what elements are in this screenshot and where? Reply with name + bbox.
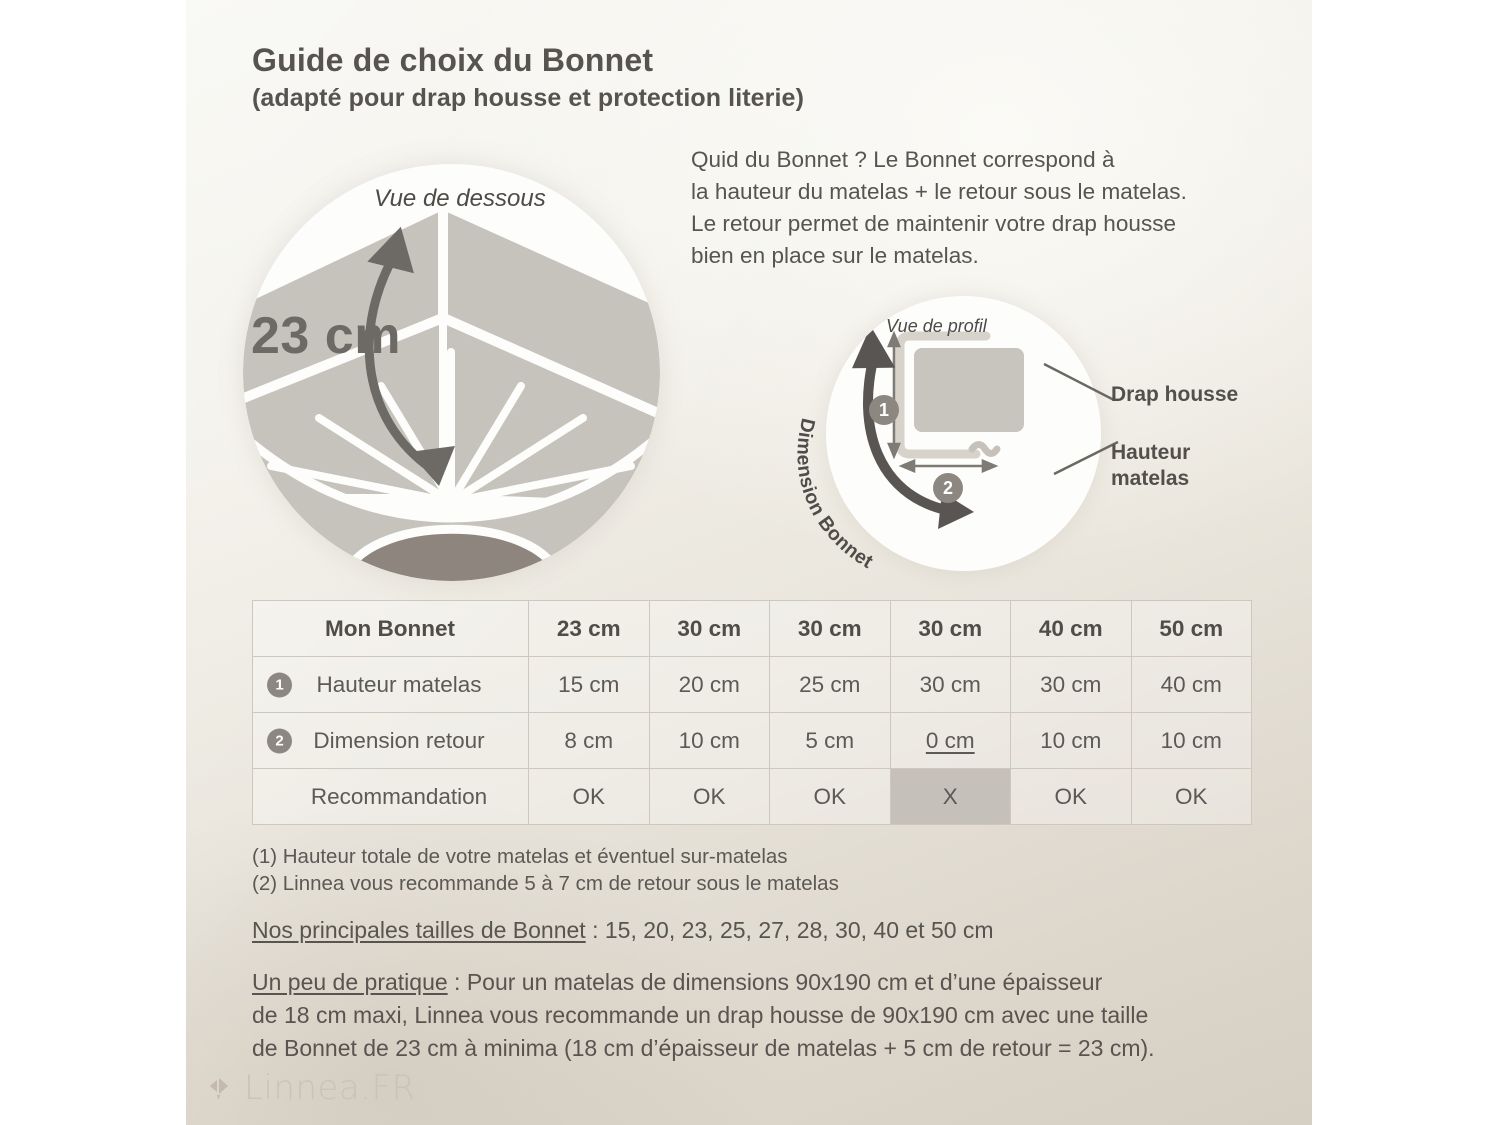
table-cell: OK bbox=[1131, 769, 1252, 825]
bottom-view-label: Vue de dessous bbox=[374, 185, 546, 213]
table-cell: OK bbox=[529, 769, 650, 825]
title-primary: Guide de choix du Bonnet bbox=[252, 42, 1212, 80]
infographic-canvas: Guide de choix du Bonnet (adapté pour dr… bbox=[0, 0, 1500, 1125]
content-panel: Guide de choix du Bonnet (adapté pour dr… bbox=[186, 0, 1312, 1125]
practical-example: Un peu de pratique : Pour un matelas de … bbox=[252, 966, 1272, 1065]
intro-line-4: bien en place sur le matelas. bbox=[691, 240, 1271, 272]
table-cell: OK bbox=[649, 769, 770, 825]
table-row: RecommandationOKOKOKXOKOK bbox=[253, 769, 1252, 825]
table-cell: 0 cm bbox=[890, 713, 1011, 769]
table-cell: 20 cm bbox=[649, 657, 770, 713]
available-sizes-value: : 15, 20, 23, 25, 27, 28, 30, 40 et 50 c… bbox=[586, 917, 994, 943]
footnote-1: (1) Hauteur totale de votre matelas et é… bbox=[252, 843, 1262, 870]
table-cell: 15 cm bbox=[529, 657, 650, 713]
table-row-label: 2Dimension retour bbox=[253, 713, 529, 769]
logo-wordmark: Linnea.FR bbox=[244, 1068, 416, 1108]
row-label-text: Dimension retour bbox=[313, 728, 484, 753]
linnea-logo[interactable]: Linnea.FR bbox=[206, 1068, 416, 1108]
table-cell: X bbox=[890, 769, 1011, 825]
intro-paragraph: Quid du Bonnet ? Le Bonnet correspond à … bbox=[691, 144, 1271, 272]
page-title: Guide de choix du Bonnet (adapté pour dr… bbox=[252, 42, 1212, 114]
table-cell: OK bbox=[770, 769, 891, 825]
practical-example-line-1: : Pour un matelas de dimensions 90x190 c… bbox=[448, 969, 1103, 995]
bottom-view-illustration bbox=[243, 164, 660, 581]
table-cell: 8 cm bbox=[529, 713, 650, 769]
table-row: 1Hauteur matelas15 cm20 cm25 cm30 cm30 c… bbox=[253, 657, 1252, 713]
intro-line-3: Le retour permet de maintenir votre drap… bbox=[691, 208, 1271, 240]
linnea-diamond-icon bbox=[206, 1074, 232, 1102]
measure-label-23cm: 23 cm bbox=[251, 306, 401, 366]
intro-line-2: la hauteur du matelas + le retour sous l… bbox=[691, 176, 1271, 208]
diagram-bottom-view: Vue de dessous 23 cm bbox=[243, 164, 660, 581]
available-sizes-label: Nos principales tailles de Bonnet bbox=[252, 917, 586, 943]
row-label-text: Recommandation bbox=[311, 784, 487, 809]
row-label-text: Hauteur matelas bbox=[316, 672, 481, 697]
table-cell: 30 cm bbox=[649, 601, 770, 657]
profile-view-label: Vue de profil bbox=[886, 316, 987, 337]
table-cell: 5 cm bbox=[770, 713, 891, 769]
table-row-label: 1Hauteur matelas bbox=[253, 657, 529, 713]
table-cell: 10 cm bbox=[1011, 713, 1132, 769]
callout-drap-housse: Drap housse bbox=[1111, 382, 1238, 408]
table-cell: 30 cm bbox=[890, 657, 1011, 713]
cell-underlined-value: 0 cm bbox=[926, 728, 975, 753]
table-row-label: Recommandation bbox=[253, 769, 529, 825]
footnote-2: (2) Linnea vous recommande 5 à 7 cm de r… bbox=[252, 870, 1262, 897]
table-cell: 23 cm bbox=[529, 601, 650, 657]
table-cell: 25 cm bbox=[770, 657, 891, 713]
callout-leader-lines bbox=[1036, 356, 1226, 516]
table-cell: 30 cm bbox=[770, 601, 891, 657]
table-cell: 40 cm bbox=[1131, 657, 1252, 713]
bonnet-size-table: Mon Bonnet23 cm30 cm30 cm30 cm40 cm50 cm… bbox=[252, 600, 1252, 825]
practical-example-line-3: de Bonnet de 23 cm à minima (18 cm d’épa… bbox=[252, 1035, 1155, 1061]
table-row: 2Dimension retour8 cm10 cm5 cm0 cm10 cm1… bbox=[253, 713, 1252, 769]
table-cell: 30 cm bbox=[1011, 657, 1132, 713]
table-cell: OK bbox=[1011, 769, 1132, 825]
title-secondary: (adapté pour drap housse et protection l… bbox=[252, 82, 1212, 115]
practical-example-line-2: de 18 cm maxi, Linnea vous recommande un… bbox=[252, 1002, 1148, 1028]
table-cell: 50 cm bbox=[1131, 601, 1252, 657]
row-label-text: Mon Bonnet bbox=[325, 616, 455, 641]
callout-hauteur-matelas: Hauteur matelas bbox=[1111, 440, 1190, 491]
intro-line-1: Quid du Bonnet ? Le Bonnet correspond à bbox=[691, 144, 1271, 176]
practical-example-label: Un peu de pratique bbox=[252, 969, 448, 995]
row-badge-2: 2 bbox=[267, 728, 292, 753]
table-row-label: Mon Bonnet bbox=[253, 601, 529, 657]
table-cell: 40 cm bbox=[1011, 601, 1132, 657]
table-cell: 10 cm bbox=[1131, 713, 1252, 769]
dimension-bonnet-arc-label: Dimension Bonnet bbox=[776, 405, 1036, 595]
table-cell: 30 cm bbox=[890, 601, 1011, 657]
table-row: Mon Bonnet23 cm30 cm30 cm30 cm40 cm50 cm bbox=[253, 601, 1252, 657]
available-sizes-line: Nos principales tailles de Bonnet : 15, … bbox=[252, 915, 1262, 946]
row-badge-1: 1 bbox=[267, 672, 292, 697]
svg-text:Dimension Bonnet: Dimension Bonnet bbox=[792, 416, 877, 573]
footnotes: (1) Hauteur totale de votre matelas et é… bbox=[252, 843, 1262, 898]
table-cell: 10 cm bbox=[649, 713, 770, 769]
